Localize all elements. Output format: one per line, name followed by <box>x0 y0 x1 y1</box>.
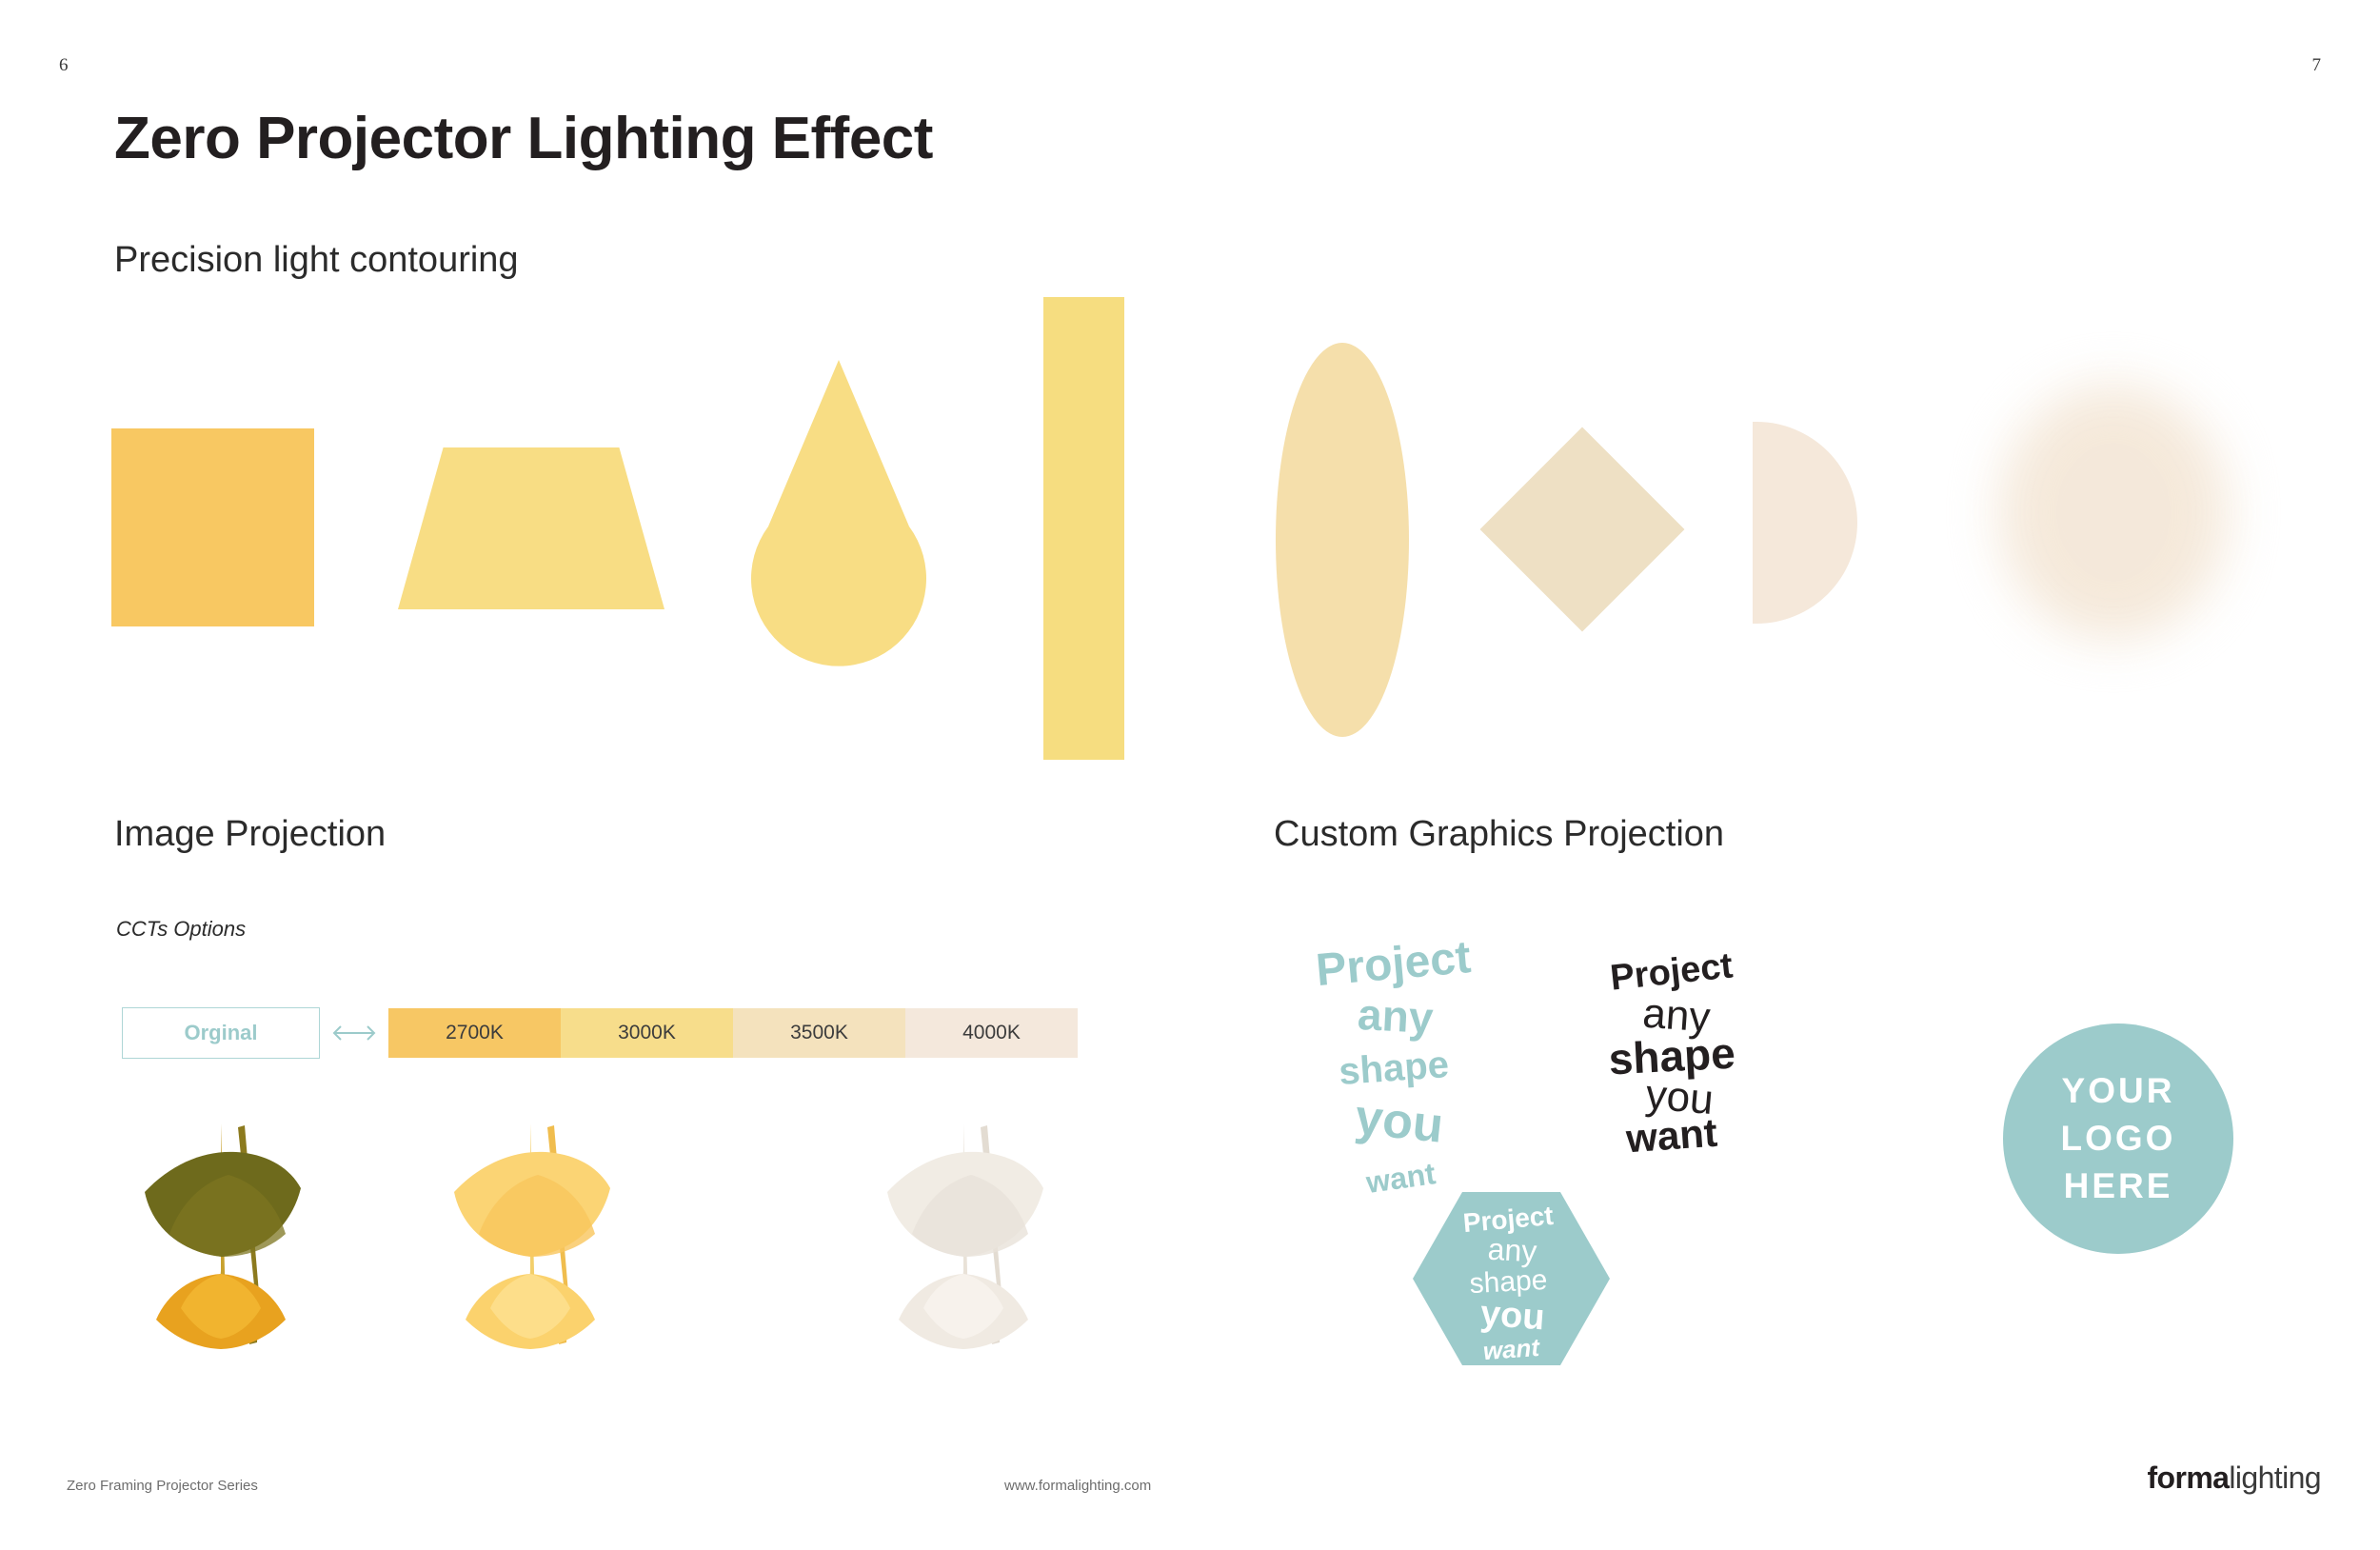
art-line-3: shape <box>1469 1264 1548 1300</box>
shape-soft-blur-circle-icon <box>1999 385 2228 640</box>
shape-diamond-icon <box>1480 427 1685 632</box>
brand-logo-light: lighting <box>2229 1461 2321 1495</box>
section-heading-image-projection: Image Projection <box>114 814 386 855</box>
double-arrow-icon <box>320 1022 388 1044</box>
art-line-1: Project <box>1314 933 1473 996</box>
shape-half-circle-icon <box>1753 422 1857 624</box>
shape-ellipse-icon <box>1276 343 1409 737</box>
cct-segment-3500k[interactable]: 3500K <box>733 1008 905 1058</box>
cct-segment-3000k[interactable]: 3000K <box>561 1008 733 1058</box>
cct-segment-4000k[interactable]: 4000K <box>905 1008 1078 1058</box>
art-line-2: any <box>1357 989 1435 1043</box>
art-line-5: want <box>1482 1333 1542 1365</box>
logo-line-1: YOUR <box>2062 1067 2175 1115</box>
brand-logo-bold: forma <box>2147 1461 2229 1495</box>
text-art-triangle-teal: Project any shape you want <box>1276 933 1514 1209</box>
light-shapes-row <box>0 0 2380 790</box>
cct-original-button[interactable]: Orginal <box>122 1007 320 1059</box>
art-line-4: you <box>1479 1294 1546 1339</box>
cct-options-row: Orginal 2700K 3000K 3500K 4000K <box>122 1007 1078 1059</box>
brand-logo: formalighting <box>2147 1461 2321 1496</box>
text-art-hexagon-teal: Project any shape you want <box>1409 1188 1614 1369</box>
cct-scale: 2700K 3000K 3500K 4000K <box>388 1008 1078 1058</box>
logo-line-3: HERE <box>2064 1162 2173 1210</box>
shape-cone-icon <box>733 360 944 693</box>
art-line-5: want <box>1624 1110 1719 1157</box>
footer-series-label: Zero Framing Projector Series <box>67 1478 258 1494</box>
shape-square-icon <box>111 428 314 626</box>
ginkgo-leaf-warm-image <box>424 1104 643 1361</box>
art-line-2: any <box>1487 1232 1537 1269</box>
shape-vertical-bar-icon <box>1043 297 1124 760</box>
logo-placeholder-circle: YOUR LOGO HERE <box>2003 1023 2233 1254</box>
ccts-options-label: CCTs Options <box>116 917 246 942</box>
footer-website-url: www.formalighting.com <box>1004 1478 1151 1494</box>
art-line-4: you <box>1353 1089 1446 1153</box>
text-art-circle-black: Project any shape you want <box>1566 938 1785 1157</box>
slide-page: 6 7 Zero Projector Lighting Effect Preci… <box>0 0 2380 1550</box>
ginkgo-leaf-cool-image <box>857 1104 1076 1361</box>
section-heading-custom-graphics: Custom Graphics Projection <box>1274 814 1724 855</box>
logo-line-2: LOGO <box>2061 1115 2176 1162</box>
ginkgo-leaf-original-image <box>114 1104 333 1361</box>
shape-trapezoid-icon <box>398 447 664 609</box>
art-line-3: shape <box>1338 1043 1450 1093</box>
art-line-1: Project <box>1608 945 1735 998</box>
cct-segment-2700k[interactable]: 2700K <box>388 1008 561 1058</box>
